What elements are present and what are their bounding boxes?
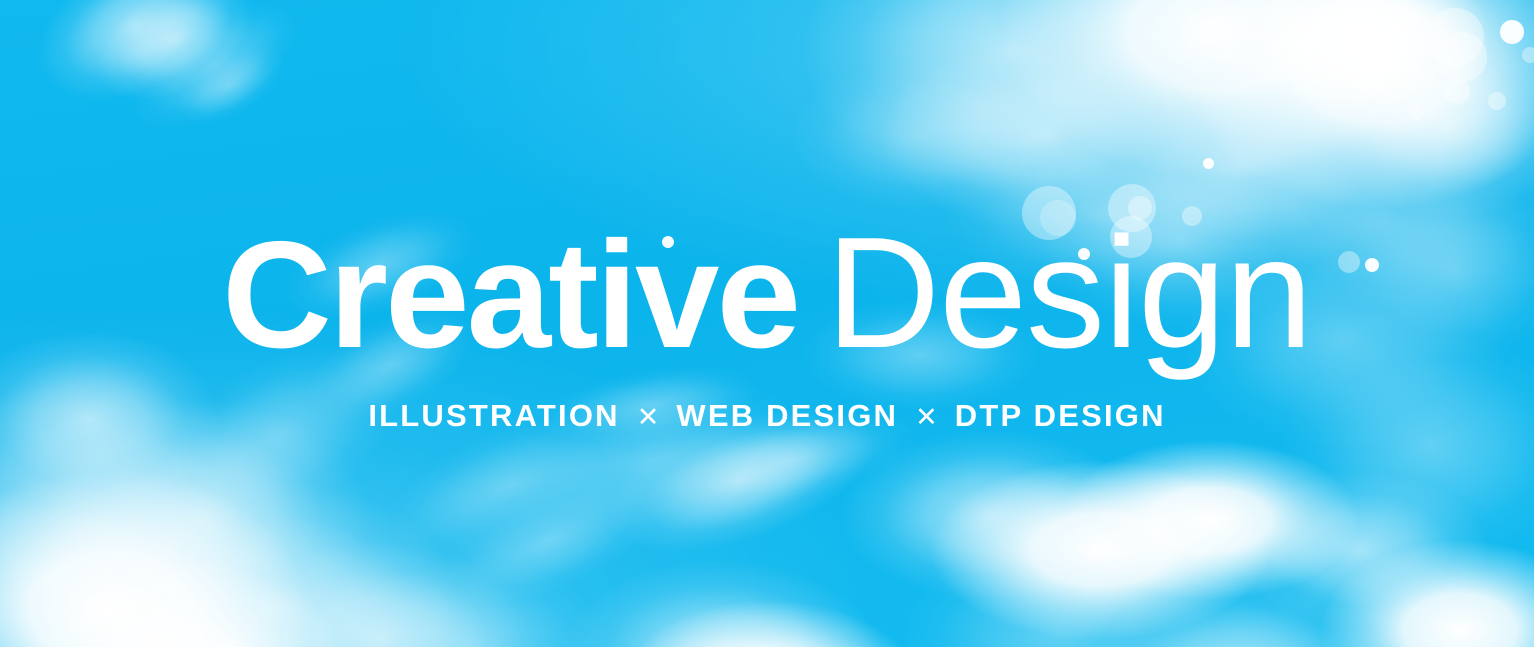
cloud-blob <box>800 0 1220 190</box>
cloud-blob <box>1320 540 1534 647</box>
cloud-blob <box>230 540 530 647</box>
cloud-blob <box>1230 140 1530 310</box>
cloud-blob <box>800 300 1040 410</box>
cloud-blob <box>930 460 1270 640</box>
cloud-blob <box>20 560 350 647</box>
cloud-blob <box>0 470 310 647</box>
cloud-blob <box>560 560 880 647</box>
cloud-blob <box>369 385 651 584</box>
cloud-layer <box>0 0 1534 647</box>
cloud-blob <box>0 330 220 510</box>
cloud-blob <box>1330 30 1534 220</box>
cloud-blob <box>1230 470 1490 630</box>
cloud-blob <box>100 480 460 647</box>
cloud-blob <box>289 286 490 444</box>
cloud-blob <box>1040 150 1320 330</box>
cloud-blob <box>330 560 610 647</box>
cloud-blob <box>1060 60 1420 270</box>
cloud-blob <box>655 394 926 526</box>
cloud-blob <box>588 380 891 581</box>
cloud-blob <box>840 430 1140 600</box>
cloud-blob <box>1240 0 1490 120</box>
cloud-blob <box>111 0 320 154</box>
cloud-blob <box>489 352 812 567</box>
cloud-blob <box>880 40 1210 230</box>
cloud-blob <box>1280 330 1534 560</box>
cloud-blob <box>900 540 1220 647</box>
cloud-blob <box>1180 0 1534 210</box>
cloud-blob <box>0 380 300 647</box>
cloud-blob <box>163 29 297 141</box>
cloud-blob <box>940 140 1260 290</box>
cloud-blob <box>1060 440 1360 600</box>
cloud-blob <box>536 351 765 458</box>
cloud-blob <box>790 60 1050 210</box>
cloud-blob <box>620 600 920 647</box>
cloud-blob <box>130 308 430 563</box>
cloud-blob <box>1180 230 1510 450</box>
hero-banner: Creative Design ILLUSTRATION ✕ WEB DESIG… <box>0 0 1534 647</box>
cloud-blob <box>271 189 490 342</box>
cloud-blob <box>1340 180 1534 360</box>
cloud-blob <box>40 400 370 640</box>
cloud-blob <box>1090 580 1390 647</box>
cloud-blob <box>76 0 273 126</box>
cloud-blob <box>1000 0 1430 180</box>
cloud-blob <box>420 449 680 632</box>
cloud-blob <box>12 0 258 132</box>
